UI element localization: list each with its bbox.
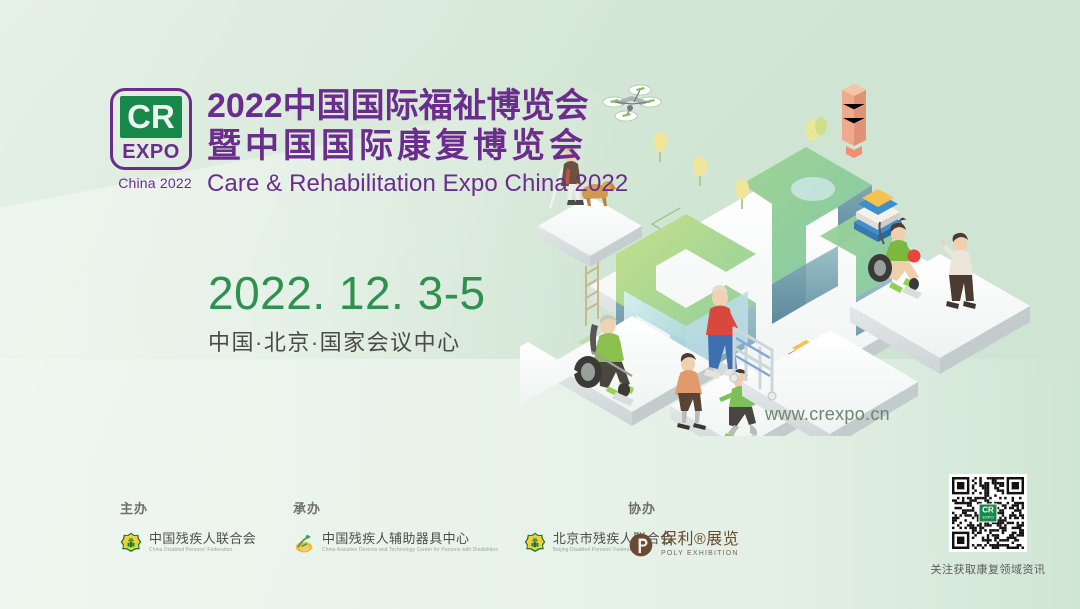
sponsor-name-en: China Disabled Persons' Federation: [149, 546, 256, 554]
sponsor-text: 中国残疾人联合会 China Disabled Persons' Federat…: [149, 531, 256, 554]
sponsor-group-coorganizer: 承办 中国残疾人辅助器具中心 China Assistive Devices a…: [293, 498, 673, 554]
logo-expo-text: EXPO: [122, 140, 180, 164]
sponsor-row: 中国残疾人辅助器具中心 China Assistive Devices and …: [293, 531, 673, 554]
logo-caption: China 2022: [110, 175, 200, 191]
poly-exhibition-icon: [628, 532, 654, 558]
sponsor-poly: 保利®展览 POLY EXHIBITION: [628, 531, 739, 559]
event-info-block: 2022. 12. 3-5 中国·北京·国家会议中心: [208, 266, 486, 358]
sponsor-row: 保利®展览 POLY EXHIBITION: [628, 531, 739, 559]
qr-caption: 关注获取康复领域资讯: [928, 561, 1048, 577]
logo-cr-mark: CR: [120, 96, 182, 138]
sponsor-name-en: POLY EXHIBITION: [661, 549, 739, 559]
qr-center-logo: CR EXPO: [979, 504, 998, 523]
poster-canvas: CR EXPO China 2022 2022中国国际福祉博览会 暨中国国际康复…: [0, 0, 1080, 609]
sponsor-name-cn: 中国残疾人联合会: [149, 531, 256, 546]
cadtc-icon: [293, 532, 315, 554]
qr-logo-expo: EXPO: [982, 515, 993, 520]
event-venue: 中国·北京·国家会议中心: [208, 328, 486, 358]
title-line-1: 2022中国国际福祉博览会: [207, 86, 628, 126]
qr-block: CR EXPO 关注获取康复领域资讯: [928, 474, 1048, 577]
sponsor-heading: 承办: [293, 498, 673, 517]
sponsor-text: 保利®展览 POLY EXHIBITION: [661, 531, 739, 559]
sponsor-group-supporter: 协办 保利®展览 POLY EXHIBITION: [628, 498, 739, 559]
qr-code[interactable]: CR EXPO: [949, 474, 1027, 552]
qr-logo-cr: CR: [982, 507, 994, 515]
sponsor-name-en: China Assistive Devices and Technology C…: [322, 546, 498, 554]
title-block: 2022中国国际福祉博览会 暨中国国际康复博览会 Care & Rehabili…: [207, 86, 628, 200]
website-url[interactable]: www.crexpo.cn: [765, 404, 890, 425]
sponsor-heading: 主办: [120, 498, 256, 517]
sponsor-cdpf: 中国残疾人联合会 China Disabled Persons' Federat…: [120, 531, 256, 554]
sponsor-name-cn: 保利®展览: [661, 531, 739, 549]
sponsor-cadtc: 中国残疾人辅助器具中心 China Assistive Devices and …: [293, 531, 498, 554]
sponsor-group-organizer: 主办 中国残疾人联合会 China Disabled Persons' Fede…: [120, 498, 256, 554]
sponsor-row: 中国残疾人联合会 China Disabled Persons' Federat…: [120, 531, 256, 554]
title-line-english: Care & Rehabilitation Expo China 2022: [207, 168, 628, 200]
title-line-2: 暨中国国际康复博览会: [207, 126, 628, 166]
cdpf-seal-icon: [120, 532, 142, 554]
sponsor-text: 中国残疾人辅助器具中心 China Assistive Devices and …: [322, 531, 498, 554]
sponsor-heading: 协办: [628, 498, 739, 517]
event-date: 2022. 12. 3-5: [208, 266, 486, 320]
bdpf-seal-icon: [524, 532, 546, 554]
sponsor-name-cn: 中国残疾人辅助器具中心: [322, 531, 498, 546]
cr-expo-logo: CR EXPO China 2022: [110, 88, 200, 191]
logo-box: CR EXPO: [110, 88, 192, 170]
orange-column: [842, 84, 866, 158]
